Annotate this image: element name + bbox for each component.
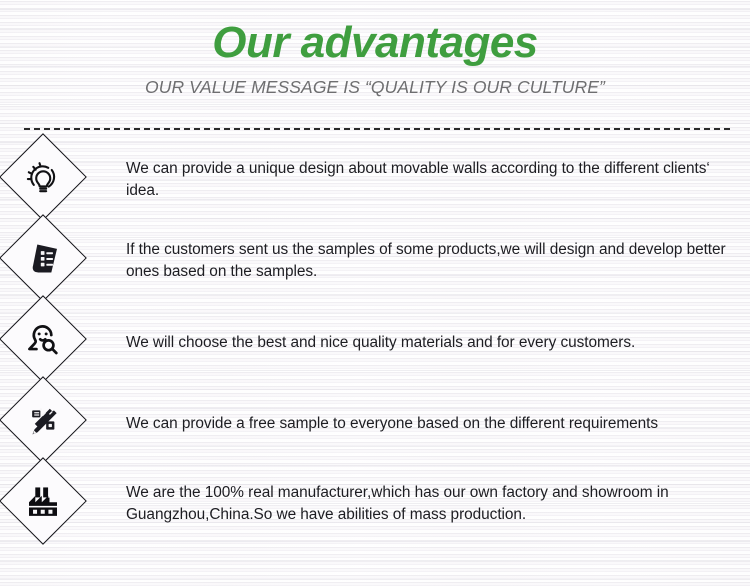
advantage-text: We can provide a unique design about mov…	[126, 158, 746, 202]
person-search-icon	[20, 316, 66, 362]
pencil-ruler-icon	[20, 397, 66, 443]
page-title: Our advantages	[0, 18, 750, 69]
document-list-icon	[20, 235, 66, 281]
advantage-item: We can provide a unique design about mov…	[0, 146, 750, 227]
advantage-text: If the customers sent us the samples of …	[126, 239, 746, 283]
diamond-badge	[0, 376, 87, 464]
advantages-list: We can provide a unique design about mov…	[0, 146, 750, 551]
advantage-item: If the customers sent us the samples of …	[0, 227, 750, 308]
page-header: Our advantages OUR VALUE MESSAGE IS “QUA…	[0, 18, 750, 98]
advantage-item: We are the 100% real manufacturer,which …	[0, 470, 750, 551]
dashed-divider	[24, 128, 730, 130]
advantage-text: We can provide a free sample to everyone…	[126, 413, 746, 435]
advantage-item: We will choose the best and nice quality…	[0, 308, 750, 389]
our-advantages-page: Our advantages OUR VALUE MESSAGE IS “QUA…	[0, 0, 750, 586]
factory-icon	[20, 478, 66, 524]
lightbulb-icon	[20, 154, 66, 200]
diamond-badge	[0, 133, 87, 221]
advantage-item: We can provide a free sample to everyone…	[0, 389, 750, 470]
page-subtitle: OUR VALUE MESSAGE IS “QUALITY IS OUR CUL…	[0, 77, 750, 98]
advantage-text: We are the 100% real manufacturer,which …	[126, 482, 746, 526]
advantage-text: We will choose the best and nice quality…	[126, 332, 746, 354]
diamond-badge	[0, 295, 87, 383]
diamond-badge	[0, 457, 87, 545]
diamond-badge	[0, 214, 87, 302]
